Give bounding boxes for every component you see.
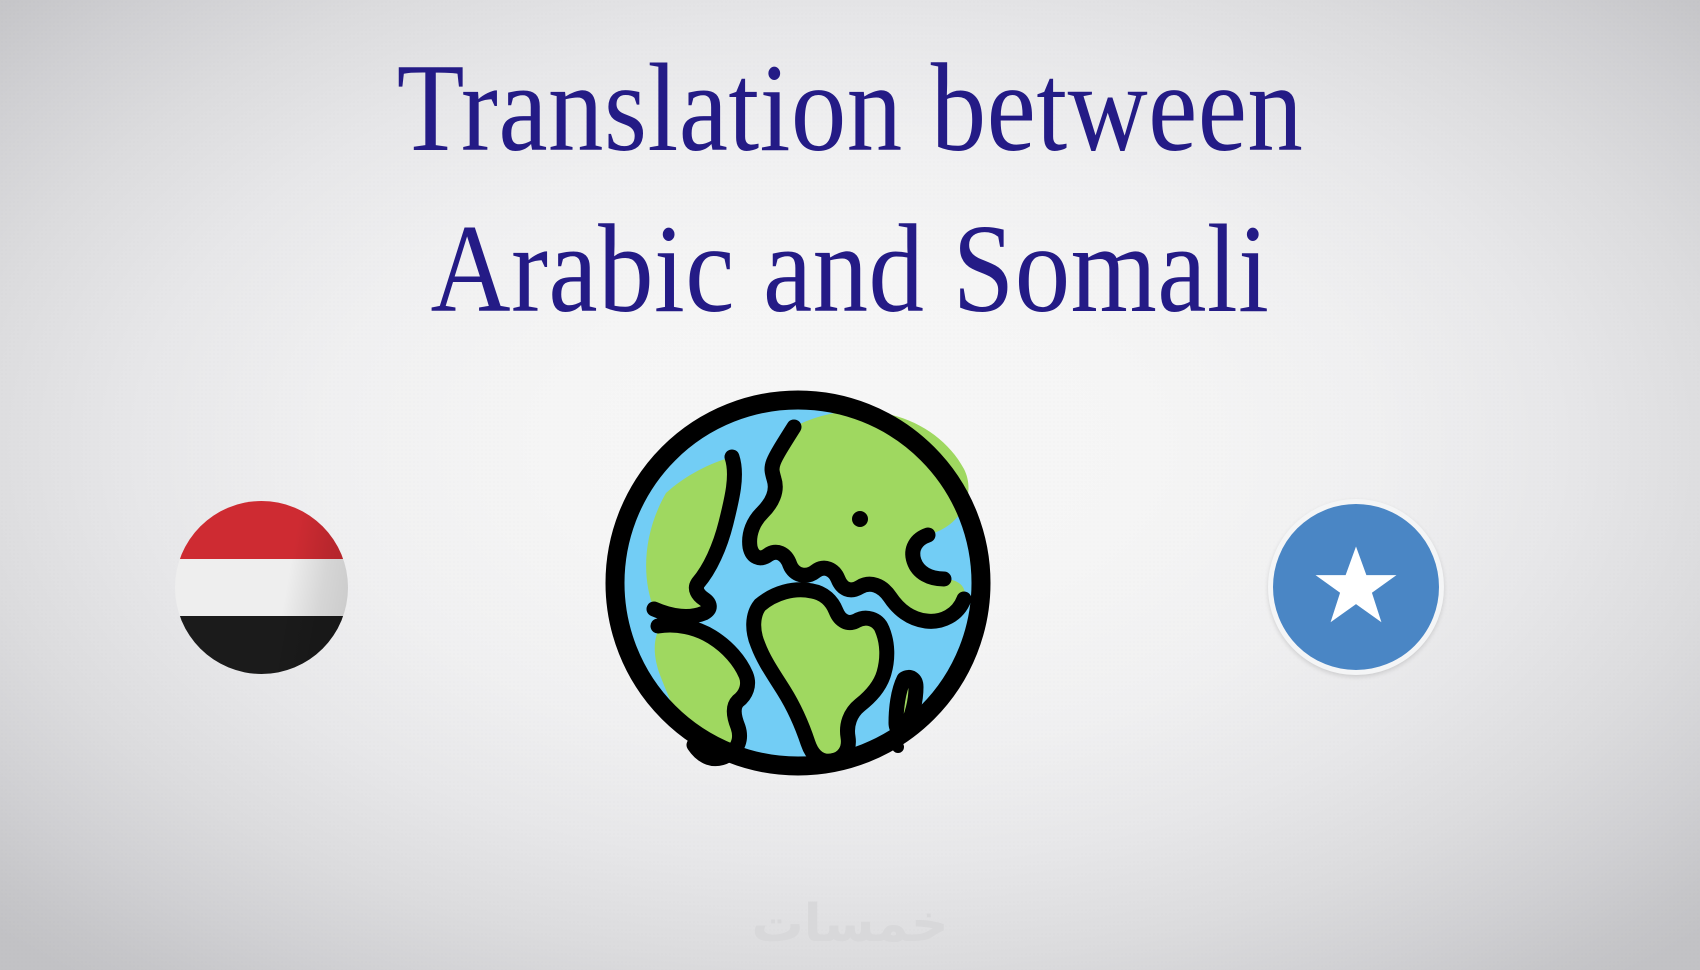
poster-canvas: Translation between Arabic and Somali xyxy=(0,0,1700,970)
somalia-flag-star-icon xyxy=(1312,543,1400,631)
title-line-2: Arabic and Somali xyxy=(102,189,1598,350)
yemen-flag-shading xyxy=(175,501,348,674)
somalia-flag-circle-icon xyxy=(1268,499,1444,675)
yemen-flag-circle-icon xyxy=(175,501,348,674)
globe-earth-icon xyxy=(598,383,998,783)
watermark-khamsat: خمسات xyxy=(0,894,1700,954)
globe-earth-svg xyxy=(598,383,998,783)
page-title: Translation between Arabic and Somali xyxy=(0,28,1700,351)
globe-island-dot-upper xyxy=(852,511,868,527)
title-line-1: Translation between xyxy=(102,28,1598,189)
